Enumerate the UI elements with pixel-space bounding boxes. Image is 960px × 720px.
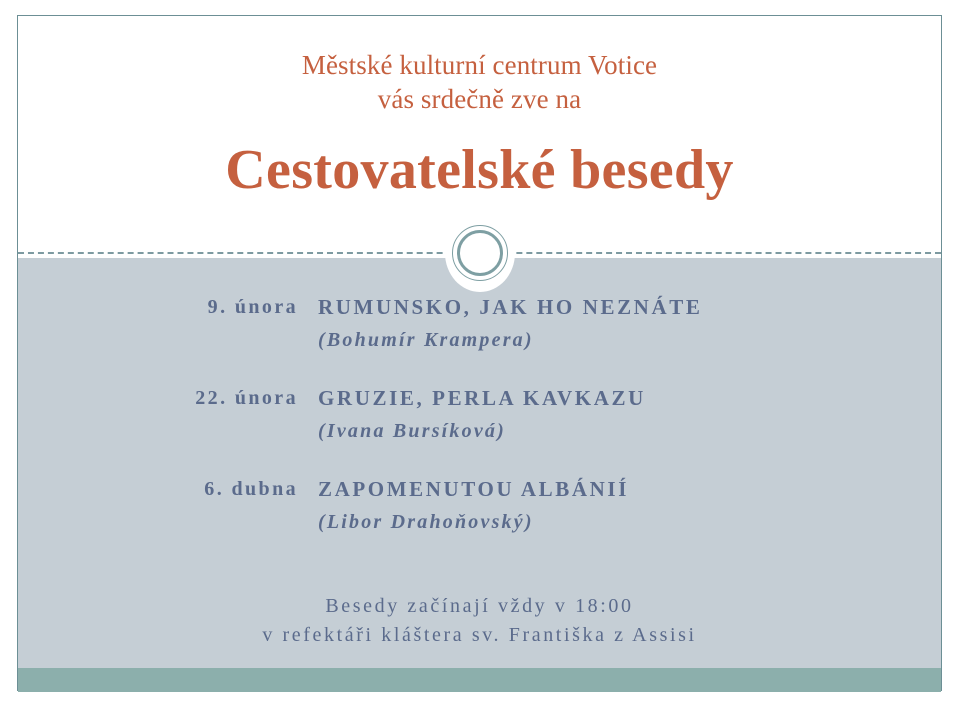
bottom-accent-bar [18, 668, 941, 692]
event-date: 6. dubna [18, 474, 318, 504]
event-details: RUMUNSKO, JAK HO NEZNÁTE (Bohumír Krampe… [318, 292, 941, 355]
event-date: 9. února [18, 292, 318, 322]
list-item: 22. února GRUZIE, PERLA KAVKAZU (Ivana B… [18, 383, 941, 446]
event-speaker: (Libor Drahoňovský) [318, 507, 941, 537]
page-title: Cestovatelské besedy [18, 138, 941, 202]
invite-line-welcome: vás srdečně zve na [18, 82, 941, 116]
list-item: 9. února RUMUNSKO, JAK HO NEZNÁTE (Bohum… [18, 292, 941, 355]
event-title: GRUZIE, PERLA KAVKAZU [318, 383, 941, 413]
event-date: 22. února [18, 383, 318, 413]
event-details: GRUZIE, PERLA KAVKAZU (Ivana Bursíková) [318, 383, 941, 446]
footer-start-time: Besedy začínají vždy v 18:00 [18, 592, 941, 621]
event-title: RUMUNSKO, JAK HO NEZNÁTE [318, 292, 941, 322]
event-speaker: (Bohumír Krampera) [318, 325, 941, 355]
circle-inner-ring-icon [457, 230, 503, 276]
event-list: 9. února RUMUNSKO, JAK HO NEZNÁTE (Bohum… [18, 292, 941, 565]
footer-note: Besedy začínají vždy v 18:00 v refektáři… [18, 592, 941, 650]
list-item: 6. dubna ZAPOMENUTOU ALBÁNIÍ (Libor Drah… [18, 474, 941, 537]
event-details: ZAPOMENUTOU ALBÁNIÍ (Libor Drahoňovský) [318, 474, 941, 537]
event-speaker: (Ivana Bursíková) [318, 416, 941, 446]
footer-venue: v refektáři kláštera sv. Františka z Ass… [18, 621, 941, 650]
presentation-slide: Městské kulturní centrum Votice vás srde… [0, 0, 960, 720]
header-block: Městské kulturní centrum Votice vás srde… [18, 16, 941, 202]
event-title: ZAPOMENUTOU ALBÁNIÍ [318, 474, 941, 504]
invite-line-organizer: Městské kulturní centrum Votice [18, 48, 941, 82]
